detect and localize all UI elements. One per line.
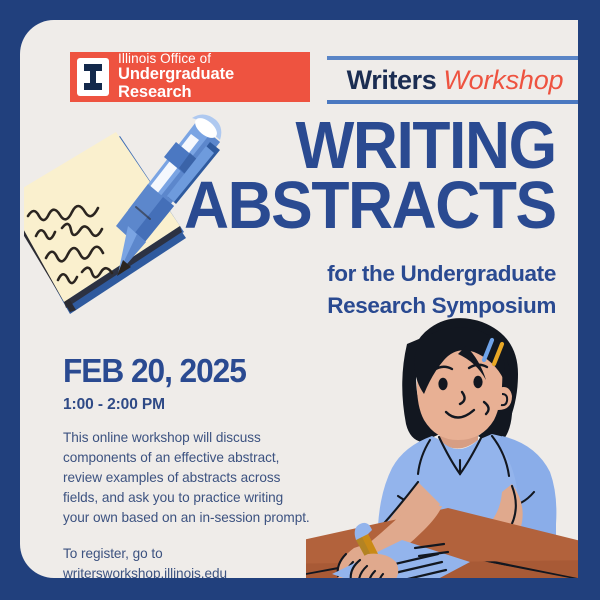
series-banner: WritersWorkshop — [327, 56, 578, 104]
flyer-canvas: Illinois Office of Undergraduate Researc… — [0, 0, 600, 600]
title-line-1: WRITING — [184, 118, 556, 174]
illinois-block-i-icon — [77, 58, 109, 96]
registration-label: To register, go to — [63, 544, 315, 564]
registration-url[interactable]: writersworkshop.illinois.edu — [63, 564, 315, 578]
page-title: WRITING ABSTRACTS — [156, 118, 556, 235]
logo-line-1: Illinois Office of — [118, 52, 310, 67]
subtitle-line-1: for the Undergraduate — [256, 258, 556, 290]
subtitle-line-2: Research Symposium — [256, 290, 556, 322]
event-date: FEB 20, 2025 — [63, 354, 305, 387]
title-line-2: ABSTRACTS — [184, 178, 556, 234]
illinois-logo-badge: Illinois Office of Undergraduate Researc… — [70, 52, 310, 102]
event-time: 1:00 - 2:00 PM — [63, 396, 315, 414]
registration-info: To register, go to writersworkshop.illin… — [63, 544, 315, 578]
series-word-workshop: Workshop — [443, 65, 563, 95]
logo-text: Illinois Office of Undergraduate Researc… — [118, 52, 310, 102]
series-title: WritersWorkshop — [327, 60, 578, 100]
student-writing-illustration — [306, 316, 578, 578]
series-rule-bottom — [327, 100, 578, 104]
series-word-writers: Writers — [347, 65, 437, 95]
flyer-inner-panel: Illinois Office of Undergraduate Researc… — [20, 20, 578, 578]
logo-line-2: Undergraduate Research — [118, 66, 310, 102]
event-details: FEB 20, 2025 1:00 - 2:00 PM This online … — [63, 354, 315, 578]
page-subtitle: for the Undergraduate Research Symposium — [256, 258, 556, 322]
event-description: This online workshop will discuss compon… — [63, 428, 311, 528]
